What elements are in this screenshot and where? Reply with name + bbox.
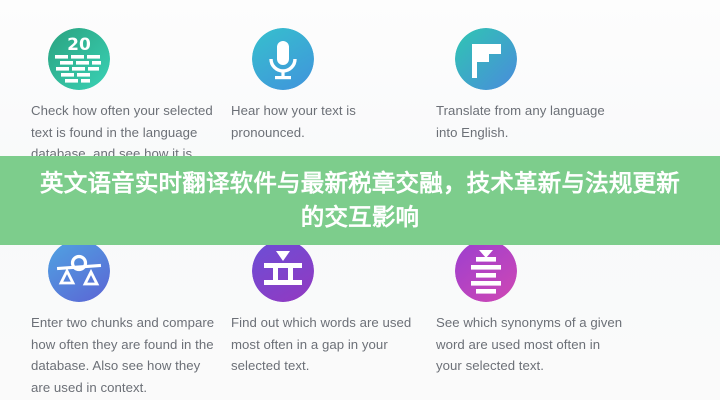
headline-banner: 英文语音实时翻译软件与最新税章交融，技术革新与法规更新的交互影响 bbox=[0, 156, 720, 245]
feature-description: See which synonyms of a given word are u… bbox=[436, 312, 626, 377]
feature-card-gap[interactable]: Find out which words are used most often… bbox=[230, 222, 435, 398]
feature-description: Find out which words are used most often… bbox=[231, 312, 421, 377]
flag-translate-icon bbox=[455, 28, 517, 90]
icon-wrap-flag bbox=[435, 28, 635, 90]
feature-card-pronounce[interactable]: Hear how your text is pronounced. bbox=[230, 0, 435, 165]
feature-card-frequency[interactable]: 20 bbox=[30, 0, 230, 165]
synonym-list-icon bbox=[455, 240, 517, 302]
feature-card-compare[interactable]: Enter two chunks and compare how often t… bbox=[30, 222, 230, 398]
banner-headline-text: 英文语音实时翻译软件与最新税章交融，技术革新与法规更新的交互影响 bbox=[35, 167, 685, 234]
page-root: 20 bbox=[0, 0, 720, 400]
svg-text:20: 20 bbox=[67, 35, 91, 55]
feature-row-bottom: Enter two chunks and compare how often t… bbox=[0, 222, 720, 398]
microphone-icon bbox=[252, 28, 314, 90]
icon-wrap-gap bbox=[230, 240, 430, 302]
feature-card-translate[interactable]: Translate from any language into English… bbox=[435, 0, 665, 165]
feature-description: Check how often your selected text is fo… bbox=[31, 100, 221, 165]
feature-description: Hear how your text is pronounced. bbox=[231, 100, 421, 143]
gap-fill-icon bbox=[252, 240, 314, 302]
feature-description: Enter two chunks and compare how often t… bbox=[31, 312, 221, 398]
icon-wrap-synonyms bbox=[435, 240, 635, 302]
feature-row-top: 20 bbox=[0, 0, 720, 165]
icon-wrap-frequency: 20 bbox=[30, 28, 230, 90]
frequency-database-icon: 20 bbox=[48, 28, 110, 90]
feature-description: Translate from any language into English… bbox=[436, 100, 626, 143]
balance-scale-icon bbox=[48, 240, 110, 302]
icon-wrap-microphone bbox=[230, 28, 430, 90]
feature-card-synonyms[interactable]: See which synonyms of a given word are u… bbox=[435, 222, 665, 398]
icon-wrap-scale bbox=[30, 240, 230, 302]
